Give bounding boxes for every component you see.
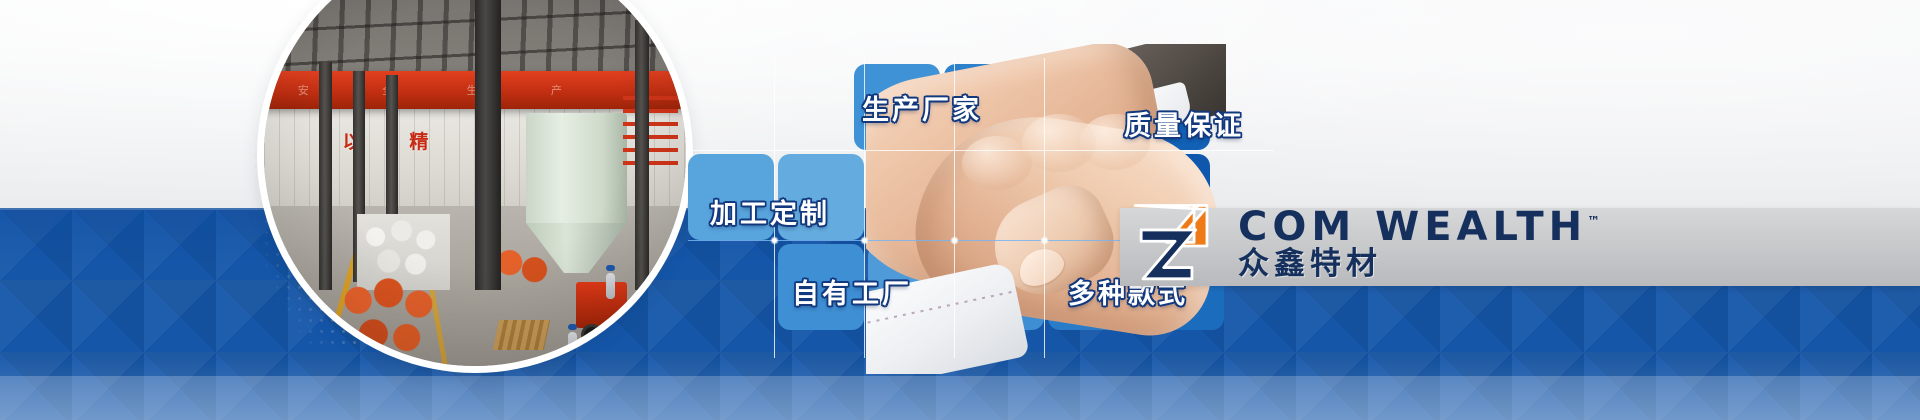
company-logo[interactable]: COM WEALTH™ 众鑫特材 [1128, 196, 1600, 292]
gridline-h-1 [688, 150, 1274, 151]
feature-label-customization: 加工定制 [710, 192, 830, 231]
feature-label-quality: 质量保证 [1124, 104, 1244, 143]
trademark-symbol: ™ [1587, 215, 1600, 230]
feature-label-manufacturer: 生产厂家 [862, 88, 982, 127]
grid-node-1 [770, 236, 779, 245]
factory-interior-photo: 安 全 生 产 重 以 精 立 业 [264, 0, 686, 366]
grid-node-2 [860, 236, 869, 245]
logo-chinese-name: 众鑫特材 [1238, 248, 1600, 281]
z-monogram-logo [1128, 198, 1224, 290]
z-monogram-svg [1128, 198, 1224, 290]
photo-vignette [264, 0, 686, 366]
factory-photo-circle: 安 全 生 产 重 以 精 立 业 [264, 0, 686, 366]
logo-english-name: COM WEALTH™ [1238, 207, 1600, 248]
feature-label-own-factory: 自有工厂 [792, 272, 912, 311]
grid-node-4 [1040, 236, 1049, 245]
logo-english-text: COM WEALTH [1238, 204, 1587, 250]
logo-text-block: COM WEALTH™ 众鑫特材 [1238, 207, 1600, 280]
grid-node-3 [950, 236, 959, 245]
band-bottom-highlight [0, 376, 1920, 420]
gridline-v-4 [1044, 58, 1045, 358]
promo-banner: 安 全 生 产 重 以 精 立 业 [0, 0, 1920, 420]
